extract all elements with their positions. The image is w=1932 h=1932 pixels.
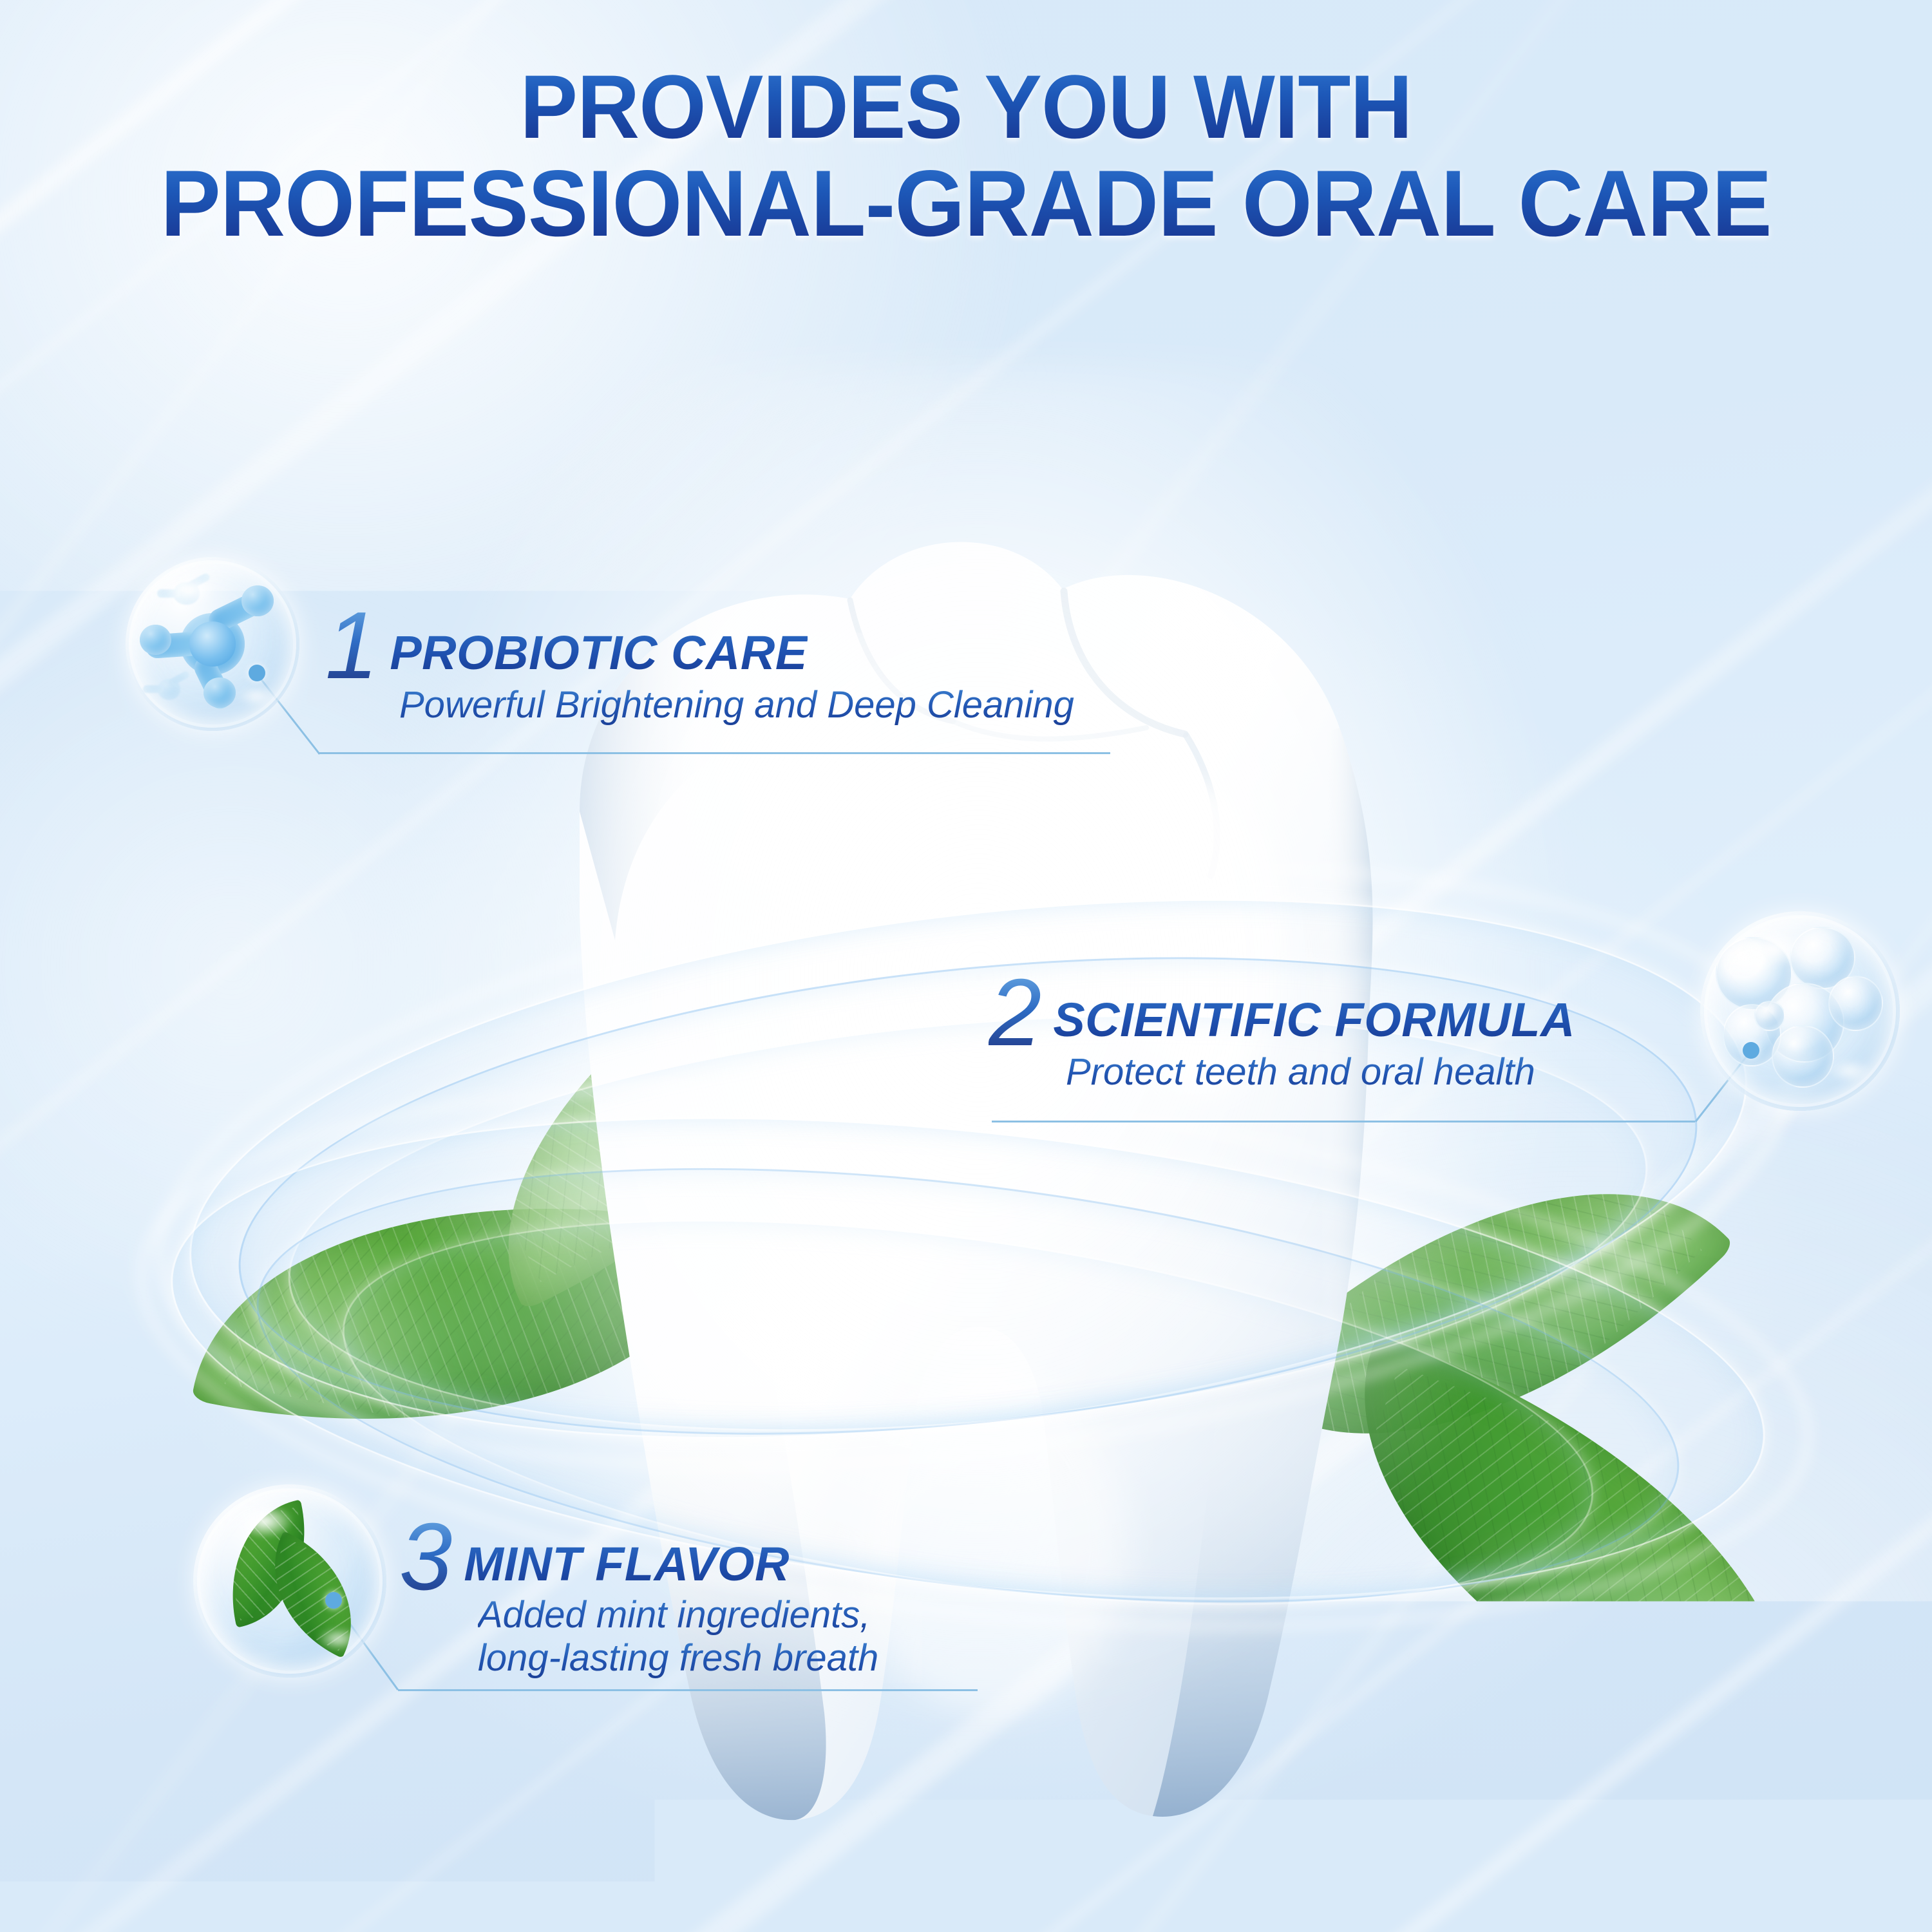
headline-line-1: PROVIDES YOU WITH: [39, 59, 1893, 154]
infographic-canvas: PROVIDES YOU WITH PROFESSIONAL-GRADE ORA…: [0, 0, 1932, 1932]
leader-anchor-1: [249, 665, 265, 681]
feature-title-3: MINT FLAVOR: [464, 1537, 790, 1591]
page-headline: PROVIDES YOU WITH PROFESSIONAL-GRADE ORA…: [0, 59, 1932, 252]
leader-line-2: [992, 1050, 1765, 1127]
feature-title-2: SCIENTIFIC FORMULA: [1053, 992, 1575, 1047]
probiotic-bubble-icon: [126, 557, 299, 731]
headline-line-2: PROFESSIONAL-GRADE ORAL CARE: [39, 154, 1893, 252]
feature-title-1: PROBIOTIC CARE: [390, 625, 807, 680]
leader-anchor-3: [325, 1592, 342, 1609]
leader-line-1: [257, 673, 1094, 763]
leader-line-3: [334, 1600, 978, 1697]
mint-leaf-bubble-icon: [193, 1484, 386, 1678]
molecule-bubble-icon: [1700, 911, 1900, 1111]
feature-number-2: 2: [989, 975, 1041, 1051]
feature-number-3: 3: [399, 1519, 452, 1595]
leader-anchor-2: [1743, 1042, 1759, 1059]
